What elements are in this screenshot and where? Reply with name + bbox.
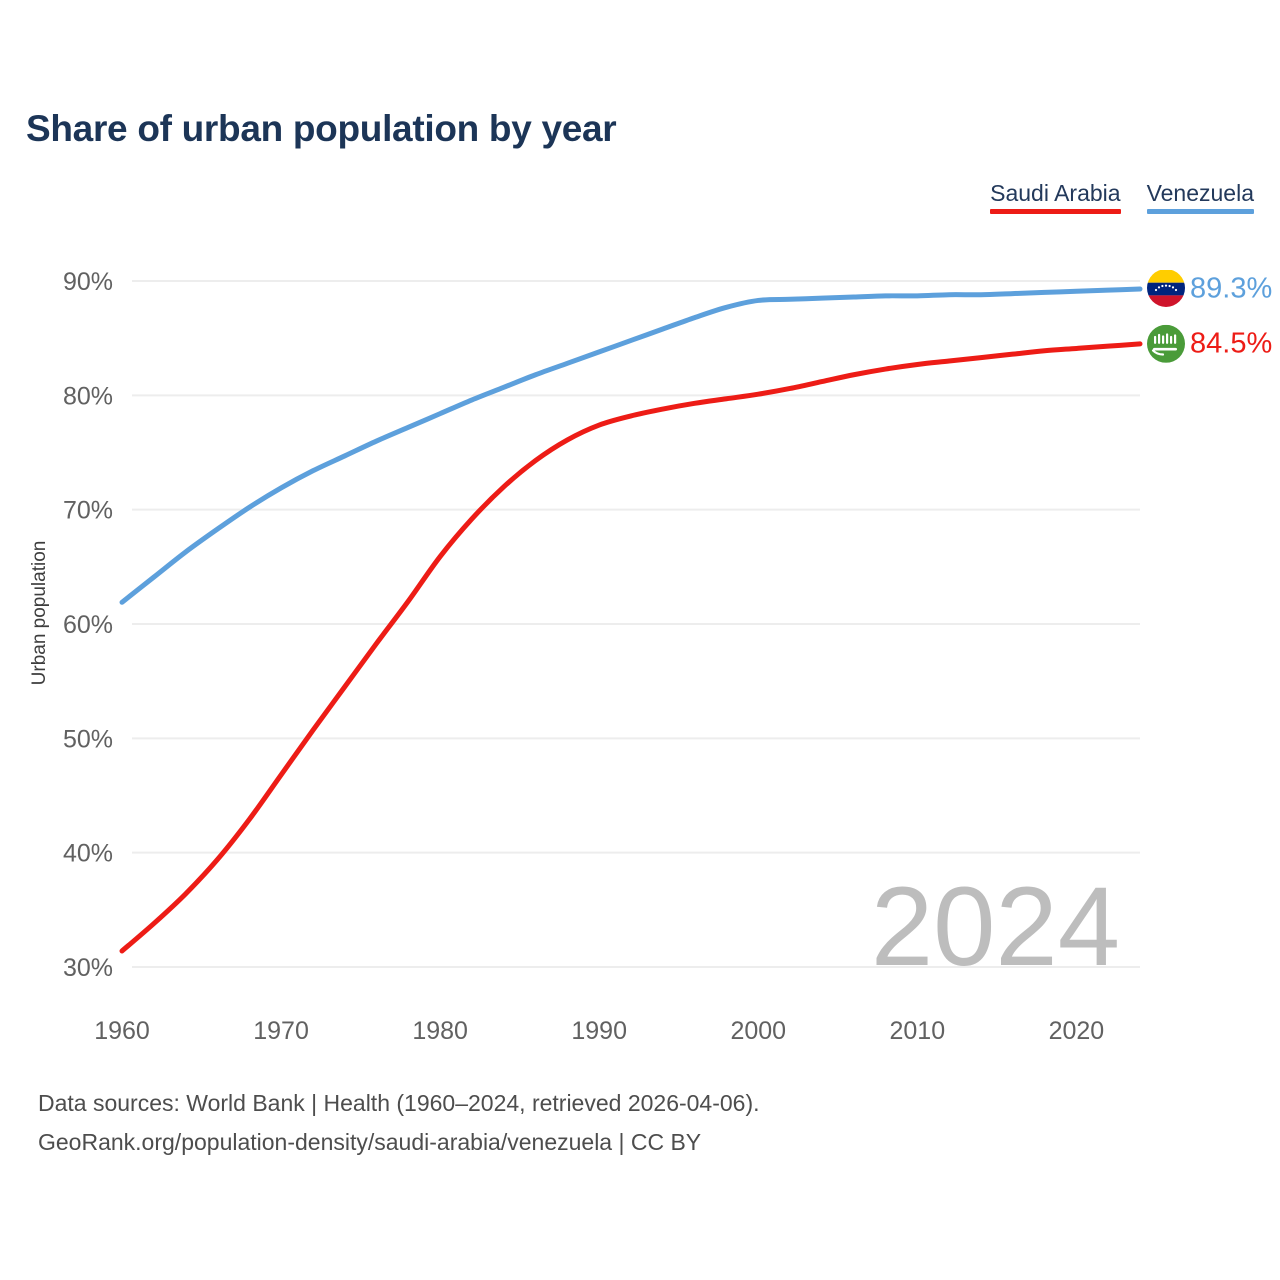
y-tick-label: 40% xyxy=(63,840,113,868)
x-tick-label: 1980 xyxy=(412,1017,468,1045)
series-line-venezuela xyxy=(122,289,1140,602)
y-axis-ticks: 30%40%50%60%70%80%90% xyxy=(63,268,113,982)
footer-sources-line: Data sources: World Bank | Health (1960–… xyxy=(38,1084,760,1123)
x-tick-label: 1960 xyxy=(94,1017,150,1045)
y-tick-label: 60% xyxy=(63,611,113,639)
y-tick-label: 50% xyxy=(63,725,113,753)
end-label-saudi-arabia: 84.5% xyxy=(1190,328,1272,360)
x-tick-label: 1970 xyxy=(253,1017,309,1045)
saudi-arabia-flag-icon xyxy=(1147,325,1185,363)
x-tick-label: 2010 xyxy=(890,1017,946,1045)
y-tick-label: 90% xyxy=(63,268,113,296)
series-line-saudi-arabia xyxy=(122,344,1140,951)
end-label-venezuela: 89.3% xyxy=(1190,273,1272,305)
end-marker-venezuela xyxy=(1147,270,1185,308)
footer: Data sources: World Bank | Health (1960–… xyxy=(38,1084,760,1162)
end-marker-saudi-arabia xyxy=(1147,325,1185,363)
y-tick-label: 70% xyxy=(63,497,113,525)
x-axis-ticks: 1960197019801990200020102020 xyxy=(94,1017,1104,1045)
footer-attribution-line[interactable]: GeoRank.org/population-density/saudi-ara… xyxy=(38,1123,760,1162)
y-tick-label: 30% xyxy=(63,954,113,982)
x-tick-label: 2020 xyxy=(1049,1017,1105,1045)
y-axis-label: Urban population xyxy=(29,541,50,686)
x-tick-label: 2000 xyxy=(730,1017,786,1045)
chart-page: Share of urban population by year Saudi … xyxy=(0,0,1280,1280)
year-watermark: 2024 xyxy=(871,864,1120,989)
y-tick-label: 80% xyxy=(63,382,113,410)
x-tick-label: 1990 xyxy=(571,1017,627,1045)
